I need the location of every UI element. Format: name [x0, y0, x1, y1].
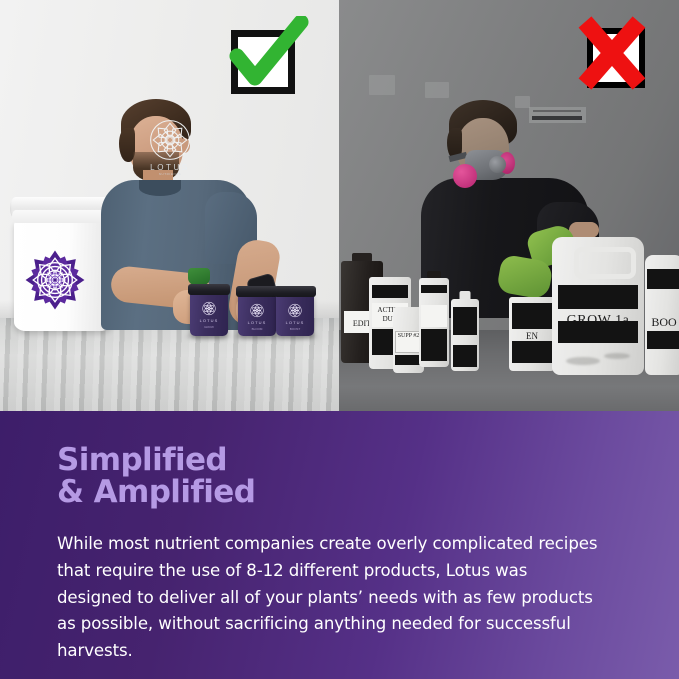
jar-lid [274, 286, 316, 297]
red-x-badge [573, 14, 651, 92]
tshirt-logo-text: LOTUS [144, 163, 196, 172]
jar-brand-name: LOTUS [190, 318, 228, 323]
jar-brand-name: LOTUS [238, 320, 276, 325]
jar-product-name: BOOST [276, 327, 314, 331]
tshirt-logo-subtext: NUTRIENTS [144, 172, 196, 176]
jar-lid [236, 286, 278, 297]
grow-nutrient-jug: GROW 1a [552, 237, 644, 375]
wall-note [369, 75, 395, 95]
green-scoop [188, 268, 210, 285]
red-x-icon [573, 14, 651, 92]
tshirt-lotus-logo: LOTUS NUTRIENTS [144, 118, 196, 172]
tshirt-collar [139, 180, 181, 196]
right-photo-panel: EDIT ACTIV8 DUR SUPP #2 [339, 0, 679, 411]
respirator-exhaust-valve [489, 156, 506, 173]
lotus-jar: LOTUS BLOOM [238, 294, 276, 336]
green-check-icon [225, 16, 311, 94]
forearm [569, 222, 599, 238]
lotus-mandala-icon [288, 303, 303, 318]
body-copy: While most nutrient companies create ove… [57, 509, 602, 665]
page-title: Simplified & Amplified [57, 445, 639, 509]
lotus-mandala-icon [250, 303, 265, 318]
nutrient-bottle [451, 291, 479, 371]
copy-band: Simplified & Amplified While most nutrie… [0, 411, 679, 679]
nutrient-jug: EN [509, 297, 555, 371]
jar-brand-name: LOTUS [276, 320, 314, 325]
headline-line-2: & Amplified [57, 477, 639, 509]
green-check-badge [225, 16, 311, 96]
respirator-filter-cartridge [453, 164, 477, 188]
jar-product-name: GROW [190, 325, 228, 329]
product-infographic: LOTUS NUTRIENTS [0, 0, 679, 679]
nutrient-bottle [419, 271, 449, 367]
lotus-jar: LOTUS GROW [190, 292, 228, 336]
lotus-jar: LOTUS BOOST [276, 294, 314, 336]
bottle-label-text: EN [509, 331, 555, 341]
comparison-photo-strip: LOTUS NUTRIENTS [0, 0, 679, 411]
headline-line-1: Simplified [57, 442, 227, 478]
jar-product-name: BLOOM [238, 327, 276, 331]
bottle-label-text: BOO [645, 315, 679, 330]
lotus-mandala-icon [202, 301, 217, 316]
lotus-mandala-icon [23, 248, 87, 312]
left-photo-panel: LOTUS NUTRIENTS [0, 0, 339, 411]
boost-nutrient-jug: BOO [645, 255, 679, 375]
jar-lid [188, 284, 230, 295]
